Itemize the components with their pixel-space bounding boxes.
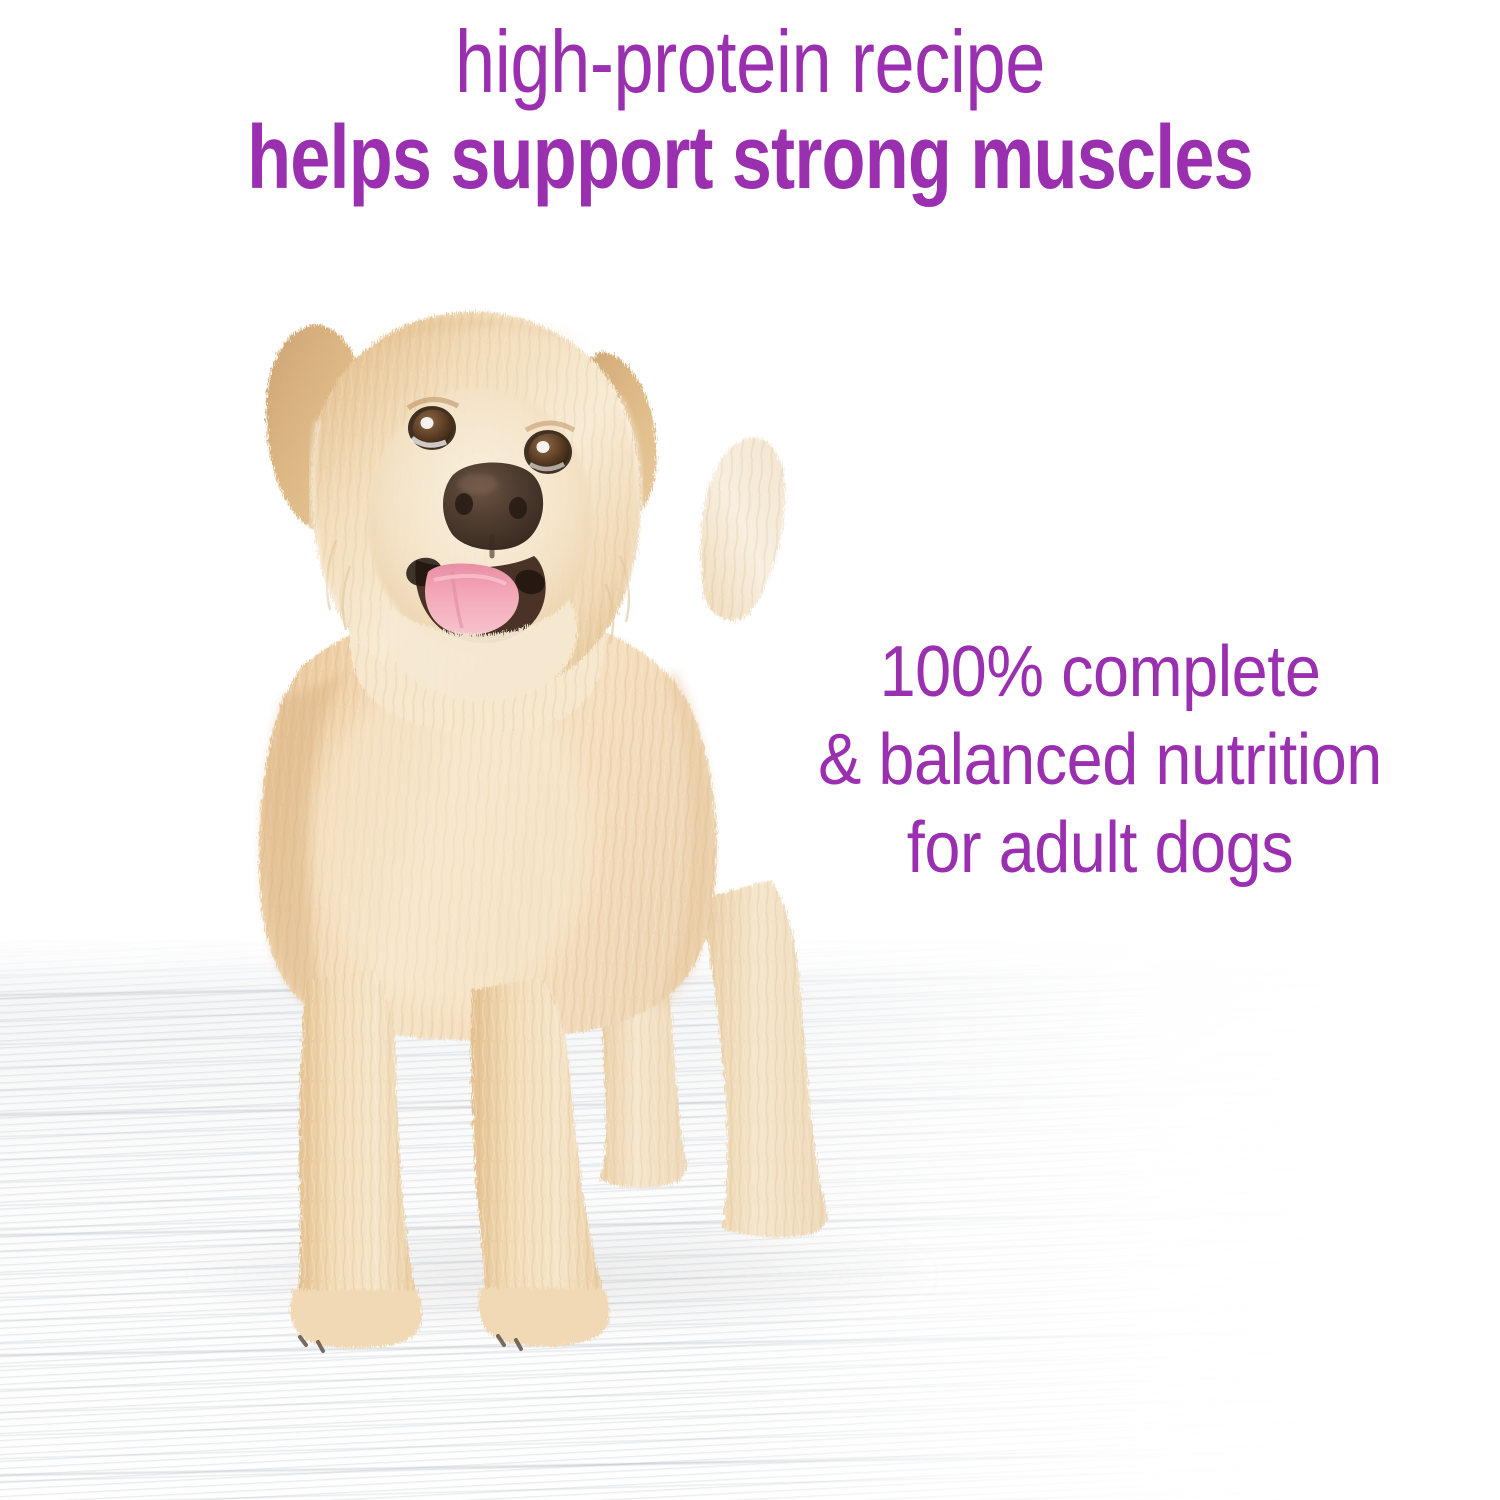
headline: high-protein recipe helps support strong…: [0, 14, 1500, 206]
product-feature-panel: high-protein recipe helps support strong…: [0, 0, 1500, 1500]
headline-line-1: high-protein recipe: [135, 14, 1365, 110]
callout-line-1: 100% complete: [740, 628, 1460, 716]
nutrition-callout: 100% complete & balanced nutrition for a…: [700, 628, 1500, 892]
callout-line-3: for adult dogs: [740, 804, 1460, 892]
headline-line-2: helps support strong muscles: [150, 110, 1350, 206]
callout-line-2: & balanced nutrition: [740, 716, 1460, 804]
